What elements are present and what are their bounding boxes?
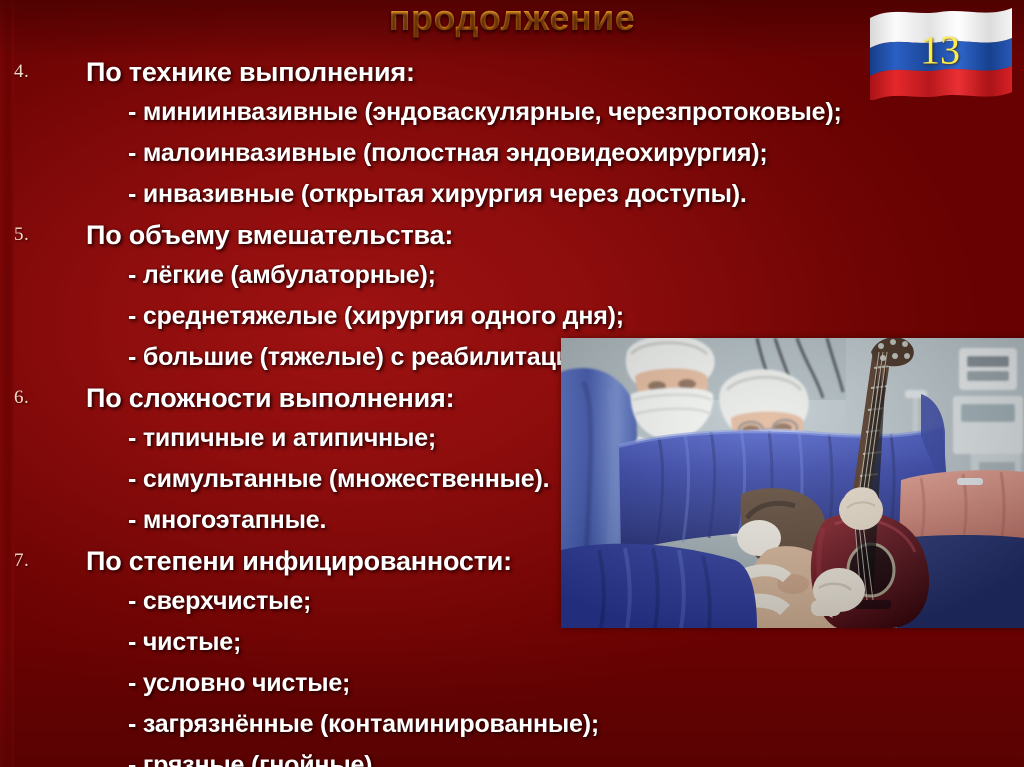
list-item: - лёгкие (амбулаторные);	[128, 255, 1024, 296]
slide: продолжение продолжение	[0, 0, 1024, 767]
section-heading: По объему вмешательства:	[86, 215, 453, 255]
operating-room-illustration	[561, 338, 1024, 628]
section-number: 4.	[14, 61, 29, 83]
section-heading: По степени инфицированности:	[86, 541, 512, 581]
section-number: 5.	[14, 224, 29, 246]
section-heading-row: 5. По объему вмешательства:	[0, 215, 1024, 255]
list-item: - малоинвазивные (полостная эндовидеохир…	[128, 133, 1024, 174]
section-number: 6.	[14, 387, 29, 409]
operating-room-photo	[561, 338, 1024, 628]
list-item: - загрязнённые (контаминированные);	[128, 704, 1024, 745]
section-heading: По технике выполнения:	[86, 52, 415, 92]
list-item: - грязные (гнойные).	[128, 745, 1024, 767]
section-heading: По сложности выполнения:	[86, 378, 454, 418]
list-item: - инвазивные (открытая хирургия через до…	[128, 174, 1024, 215]
list-item: - условно чистые;	[128, 663, 1024, 704]
section-number: 7.	[14, 550, 29, 572]
russian-flag: 13	[864, 2, 1016, 100]
flag-icon	[864, 2, 1016, 100]
list-item: - среднетяжелые (хирургия одного дня);	[128, 296, 1024, 337]
list-item: - чистые;	[128, 622, 1024, 663]
